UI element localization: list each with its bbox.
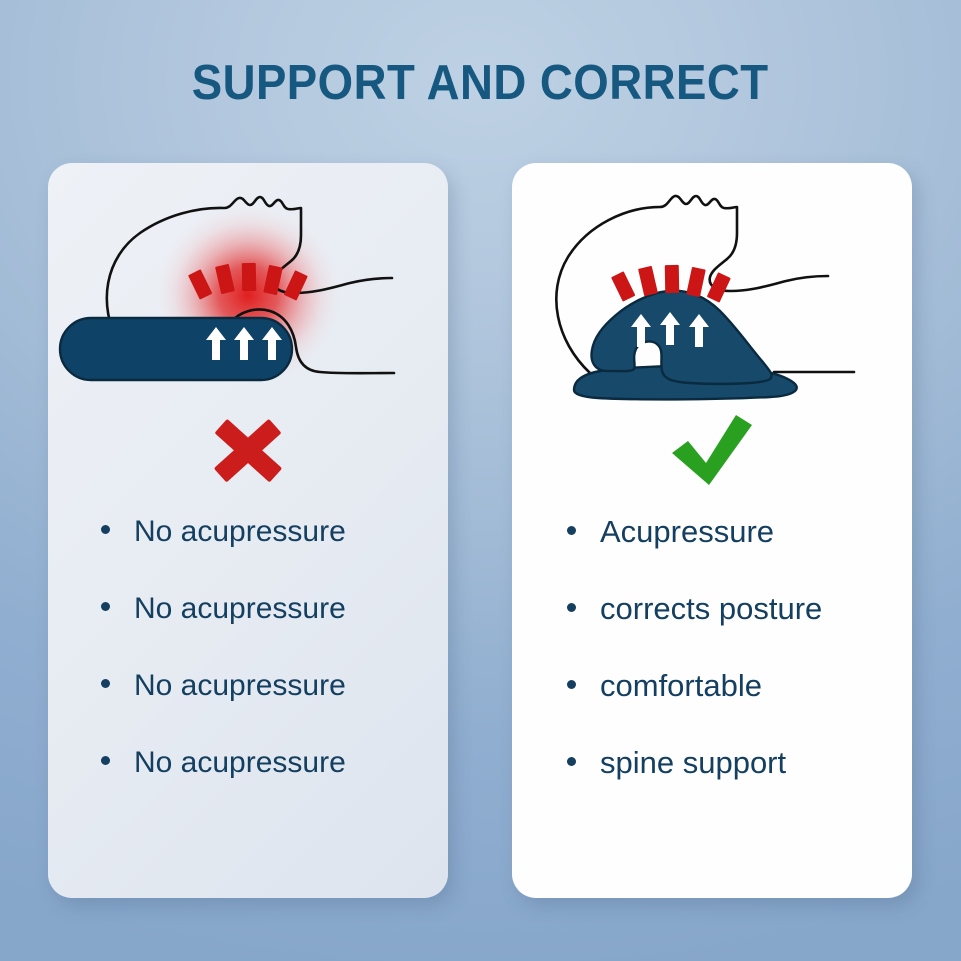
acupressure-mark (686, 267, 706, 297)
feature-list-incorrect: No acupressure No acupressure No acupres… (48, 515, 448, 823)
list-item: corrects posture (512, 592, 912, 669)
contoured-pillow-body (592, 291, 772, 384)
feature-label: No acupressure (134, 746, 346, 780)
list-bullet-icon (101, 525, 110, 534)
list-item: No acupressure (48, 669, 448, 746)
comparison-card-correct: Acupressure corrects posture comfortable… (512, 163, 912, 898)
pressure-arrows (206, 327, 282, 360)
cross-mark-icon (205, 411, 291, 491)
pressure-arrows (631, 312, 709, 347)
poster-canvas: SUPPORT AND CORRECT (0, 0, 961, 961)
feature-label: No acupressure (134, 669, 346, 703)
list-item: No acupressure (48, 746, 448, 823)
page-title: SUPPORT AND CORRECT (0, 54, 961, 112)
acupressure-mark (665, 265, 679, 293)
feature-list-correct: Acupressure corrects posture comfortable… (512, 515, 912, 823)
flat-pillow-body (60, 318, 292, 380)
acupressure-mark (638, 266, 658, 296)
list-bullet-icon (567, 680, 576, 689)
list-item: Acupressure (512, 515, 912, 592)
list-item: spine support (512, 746, 912, 823)
feature-label: Acupressure (600, 515, 774, 549)
list-bullet-icon (101, 756, 110, 765)
contoured-pillow-illustration (512, 175, 912, 420)
list-bullet-icon (567, 603, 576, 612)
page-title-text: SUPPORT AND CORRECT (192, 54, 769, 112)
list-bullet-icon (101, 679, 110, 688)
feature-label: corrects posture (600, 592, 822, 626)
feature-label: spine support (600, 746, 786, 780)
list-bullet-icon (567, 526, 576, 535)
feature-label: comfortable (600, 669, 762, 703)
list-item: No acupressure (48, 515, 448, 592)
flat-pillow-illustration (48, 175, 448, 420)
feature-label: No acupressure (134, 515, 346, 549)
comparison-card-incorrect: No acupressure No acupressure No acupres… (48, 163, 448, 898)
feature-label: No acupressure (134, 592, 346, 626)
verdict-correct (512, 411, 912, 499)
acupressure-mark (242, 263, 256, 291)
list-bullet-icon (567, 757, 576, 766)
list-item: comfortable (512, 669, 912, 746)
check-mark-icon (666, 411, 758, 491)
acupressure-mark (611, 271, 635, 301)
list-bullet-icon (101, 602, 110, 611)
verdict-incorrect (48, 411, 448, 499)
list-item: No acupressure (48, 592, 448, 669)
